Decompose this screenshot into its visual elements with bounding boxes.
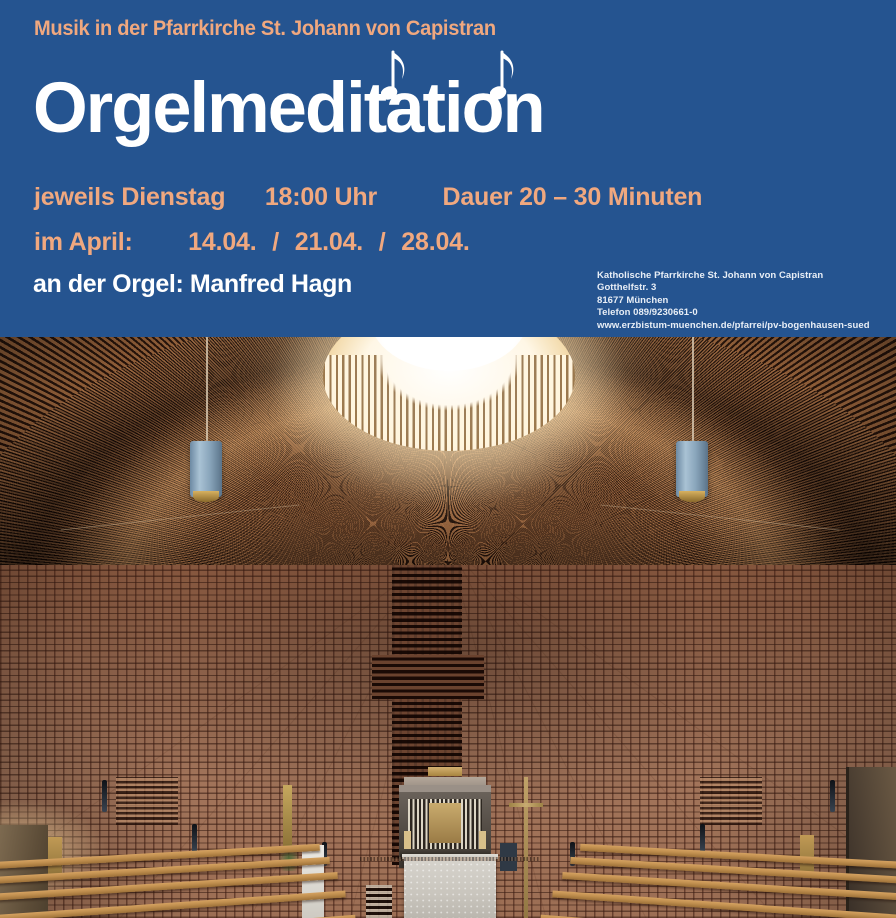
sanctuary-step-3 [360,857,540,861]
altar-block [404,857,496,918]
date-item-1: 14.04. [188,228,256,256]
pendant-cable-left [206,337,208,441]
side-door-left [0,825,48,918]
parish-address-block: Katholische Pfarrkirche St. Johann von C… [597,270,870,332]
date-separator: / [370,228,395,257]
altar-candle-left [404,831,411,849]
date-separator: / [263,228,288,257]
dates-month-label: im April: [34,228,133,256]
pendant-lamp-mouth-right [679,491,705,502]
wall-lamp-1 [102,780,107,812]
altar-corpus-ornament [428,767,462,776]
schedule-duration: Dauer 20 – 30 Minuten [442,183,702,211]
wooden-dome-ceiling [0,337,896,597]
series-kicker: Musik in der Pfarrkirche St. Johann von … [34,17,496,41]
wall-lamp-5 [700,824,705,852]
address-city: 81677 München [597,295,870,307]
address-parish-name: Katholische Pfarrkirche St. Johann von C… [597,270,870,282]
wall-art-left [116,777,178,825]
perforated-window-left [366,885,392,918]
date-item-3: 28.04. [401,228,469,256]
pendant-cable-right [692,337,694,441]
processional-cross-arm [509,803,543,807]
pendant-lamp-left [190,441,222,497]
schedule-weekday: jeweils Dienstag [34,183,225,211]
oculus-skylight [323,337,575,451]
oculus-slats [323,355,575,451]
tabernacle-icon [429,803,461,843]
schedule-line: jeweils Dienstag 18:00 Uhr Dauer 20 – 30… [34,183,702,212]
wall-lamp-6 [830,780,835,812]
paschal-candle [283,785,292,847]
processional-cross-post [524,777,528,918]
ambo-lectern [302,845,324,918]
organist-line: an der Orgel: Manfred Hagn [33,270,352,299]
perforated-brick-cross-arm [372,655,484,699]
wall-art-right [700,777,762,825]
pendant-lamp-mouth-left [193,491,219,502]
poster-header: Musik in der Pfarrkirche St. Johann von … [0,0,896,337]
page-title: Orgelmeditation [33,73,544,144]
address-website[interactable]: www.erzbistum-muenchen.de/pfarrei/pv-bog… [597,320,870,332]
poster: Musik in der Pfarrkirche St. Johann von … [0,0,896,918]
altar-candle-right [479,831,486,849]
dates-line: im April: 14.04. / 21.04. / 28.04. [34,228,470,257]
pendant-lamp-right [676,441,708,497]
address-street: Gotthelfstr. 3 [597,282,870,294]
poster-title-wrap: Orgelmeditation [33,73,549,144]
date-item-2: 21.04. [295,228,363,256]
address-phone: Telefon 089/9230661-0 [597,307,870,319]
church-interior-photo [0,337,896,918]
wall-lamp-2 [192,824,197,852]
schedule-time: 18:00 Uhr [265,183,377,211]
